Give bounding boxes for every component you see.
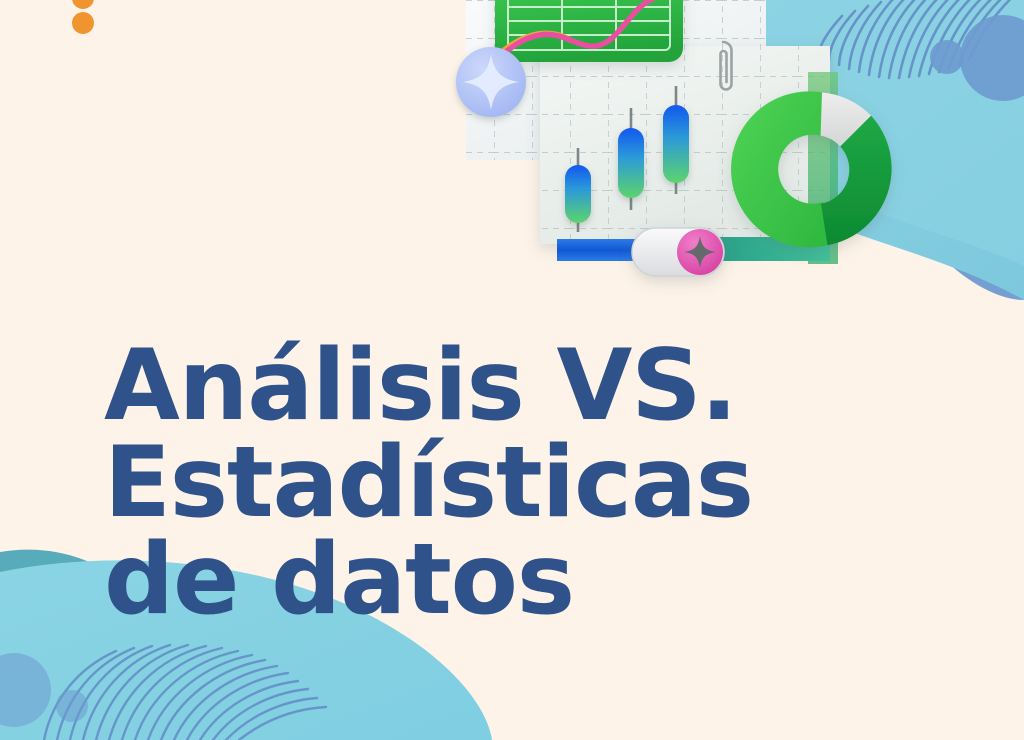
green-line-chart-card [489, 0, 683, 64]
poster-canvas: Análisis VS. Estadísticas de datos [0, 0, 1024, 740]
data-analytics-illustration [0, 0, 1024, 740]
toggle-switch[interactable] [632, 228, 724, 276]
sparkle-badge [456, 47, 526, 117]
